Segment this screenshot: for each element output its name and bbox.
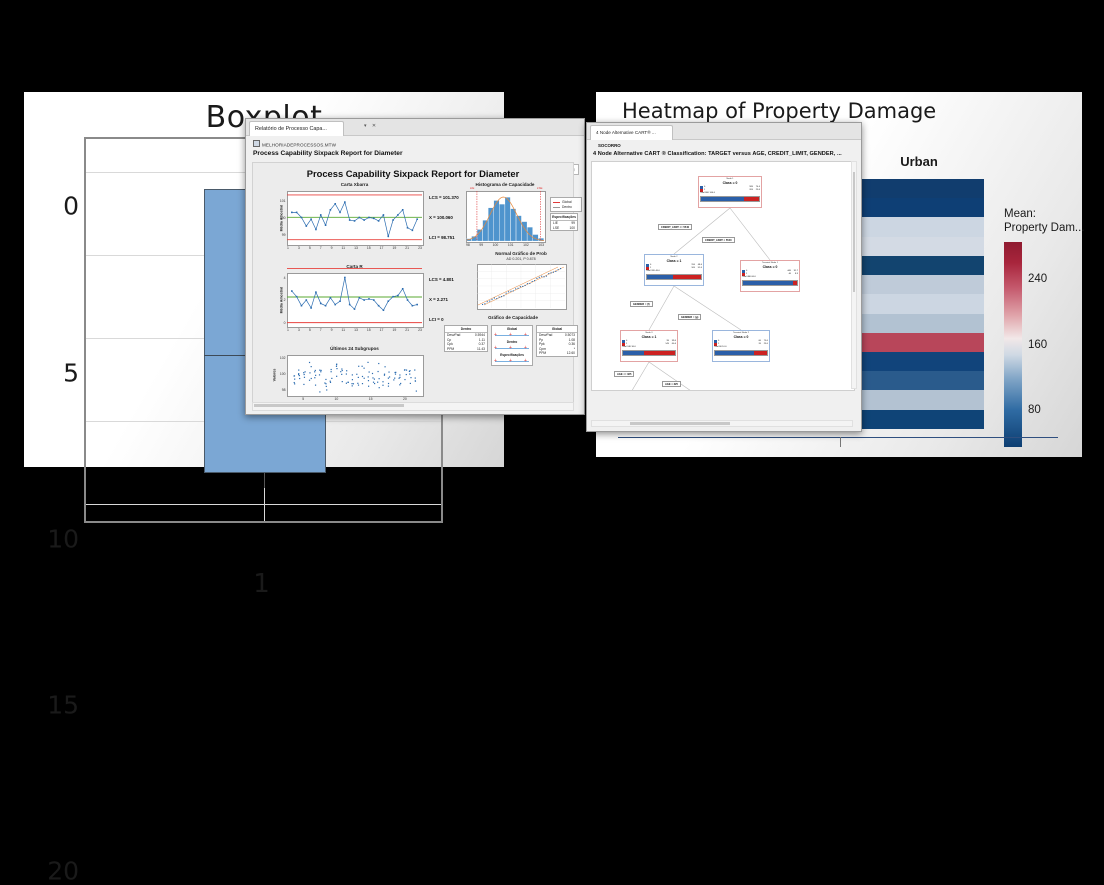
overall-stats-box: Global DesvPad0.5073Pp1.08Ppk0.36Cpm*PPM…	[536, 325, 578, 357]
probability-point	[508, 291, 509, 292]
capbar-within-line: +++	[492, 345, 532, 352]
scatter-point	[378, 363, 379, 364]
series-marker	[330, 297, 332, 299]
probability-point	[520, 286, 521, 287]
probability-point	[499, 297, 500, 298]
cart-node-class: Class = 1	[646, 259, 702, 263]
probability-point	[513, 290, 514, 291]
capbar-spec-line: +++	[492, 358, 532, 365]
cart-node[interactable]: Terminal Node 2Class = 006075.012025.0To…	[712, 330, 770, 362]
scatter-point	[346, 383, 347, 384]
probability-point	[482, 304, 483, 305]
scatter-point	[341, 368, 342, 369]
series-marker	[354, 220, 356, 222]
scatter-point	[379, 378, 380, 379]
scatter-point	[309, 380, 310, 381]
spec-usl-label: LSE	[553, 226, 559, 231]
axis-x-tick: 101	[508, 243, 514, 247]
series-marker	[325, 305, 327, 307]
cart-bar-class1	[744, 197, 759, 201]
scatter-point	[374, 383, 375, 384]
heatmap-legend-tick: 80	[1028, 404, 1041, 416]
legend-swatch-global	[553, 202, 560, 203]
histogram-bars	[466, 191, 544, 241]
probability-point	[560, 268, 561, 269]
sixpack-main-title: Process Capability Sixpack Report for Di…	[253, 168, 573, 179]
series-marker	[291, 212, 293, 214]
xbar-chart: Carta Xbarra Média Amostral 99100101 135…	[287, 191, 422, 244]
axis-x-tick: 21	[405, 328, 409, 332]
scatter-point	[341, 374, 342, 375]
scatter-point	[388, 386, 389, 387]
scatter-point	[299, 375, 300, 376]
scatter-point	[400, 383, 401, 384]
scatter-point	[304, 377, 305, 378]
worksheet-name: MELHORIADEPROCESSOS.MTW	[262, 143, 336, 148]
series-marker	[344, 201, 346, 203]
cart-class-percent: 8.3	[791, 273, 798, 276]
subgroup-xticks: 5101520	[287, 397, 422, 401]
stat-row: PPM12.60	[537, 351, 577, 356]
histogram-bar	[516, 216, 521, 241]
series-marker	[373, 218, 375, 220]
scatter-point	[331, 378, 332, 379]
heatmap-legend-tick: 240	[1028, 273, 1047, 285]
series-marker	[305, 225, 307, 227]
within-stats-rows: DesvPad0.5944Cp1.11Cpk0.37PPM11.43	[445, 333, 487, 351]
scatter-point	[404, 369, 405, 370]
axis-x-tick: 103	[538, 243, 544, 247]
scatter-point	[315, 385, 316, 386]
series-marker	[334, 203, 336, 205]
scatter-point	[364, 378, 365, 379]
series-marker	[339, 212, 341, 214]
scatter-point	[399, 377, 400, 378]
spec-box-title: Especificações	[551, 214, 577, 221]
series-marker	[301, 217, 303, 219]
series-marker	[402, 209, 404, 211]
probability-point	[539, 277, 540, 278]
cart-node[interactable]: Node 1Class = 0059574.4120525.6Total 800…	[698, 176, 762, 208]
scatter-point	[311, 366, 312, 367]
cart-node[interactable]: Node 2Class = 1015548.4116551.6Total 320…	[644, 254, 704, 286]
scatter-point	[304, 371, 305, 372]
scatter-point	[368, 376, 369, 377]
scatter-point	[357, 383, 358, 384]
scatter-point	[342, 381, 343, 382]
scatter-point	[416, 390, 417, 391]
boxplot-y-tick: 5	[63, 358, 79, 387]
cart-node-total: Total 320 40.0	[646, 270, 702, 273]
probability-point	[496, 298, 497, 299]
axis-x-tick: 1	[287, 328, 289, 332]
series-marker	[392, 219, 394, 221]
cart-horizontal-scrollbar[interactable]	[591, 420, 853, 427]
scatter-point	[384, 375, 385, 376]
subgroup-ylabel: Valores	[272, 369, 276, 382]
scatter-point	[298, 369, 299, 370]
scatter-point	[409, 373, 410, 374]
probability-point	[503, 295, 504, 296]
cart-bar-class0	[743, 281, 793, 285]
scatter-point	[362, 376, 363, 377]
capbar-global-line: +++	[492, 332, 532, 339]
capability-bars: Global +++ Dentro +++ Especificações +++	[491, 325, 533, 366]
series-marker	[359, 217, 361, 219]
within-stats-box: Dentro DesvPad0.5944Cp1.11Cpk0.37PPM11.4…	[444, 325, 488, 352]
r-center-label: X = 2.271	[429, 297, 448, 302]
heatmap-colorbar: 24016080	[1004, 242, 1022, 447]
probability-point	[525, 285, 526, 286]
probability-point	[543, 276, 544, 277]
scatter-point	[384, 374, 385, 375]
series-marker	[363, 299, 365, 301]
series-marker	[315, 229, 317, 231]
series-marker	[387, 236, 389, 238]
series-marker	[315, 291, 317, 293]
r-xticks: 1357911131517192123	[287, 328, 422, 332]
sixpack-report-window[interactable]: Relatório de Processo Capa... ▾ ✕ MELHOR…	[245, 118, 585, 415]
cart-tree-canvas: Node 1Class = 0059574.4120525.6Total 800…	[591, 161, 855, 391]
histogram-bar	[494, 201, 499, 241]
sixpack-tab-controls[interactable]: ▾ ✕	[364, 123, 378, 129]
scatter-point	[336, 368, 337, 369]
boxplot-y-tick: 15	[47, 690, 79, 719]
scatter-point	[368, 380, 369, 381]
xbar-center-label: X = 100.060	[429, 215, 453, 220]
cart-bar-class0	[623, 351, 644, 355]
axis-y-tick: 0	[284, 321, 286, 325]
heatmap-legend-title-2: Property Dam...	[1004, 221, 1078, 235]
scatter-point	[351, 383, 352, 384]
probability-point	[510, 291, 511, 292]
normal-plot-title: Normal Gráfico de Prob	[466, 251, 576, 256]
heatmap-legend: Mean: Property Dam... 24016080	[1004, 207, 1078, 235]
spec-usl-value: 100	[569, 226, 575, 231]
cart-node-class: Class = 0	[714, 335, 768, 339]
sixpack-horizontal-scrollbar[interactable]	[252, 402, 574, 411]
xbar-xticks: 1357911131517192123	[287, 246, 422, 250]
scatter-point	[311, 378, 312, 379]
cart-class-count: 165	[688, 267, 695, 270]
scatter-point	[294, 379, 295, 380]
scatter-point	[352, 374, 353, 375]
axis-x-tick: 17	[380, 328, 384, 332]
cart-class-percent: 60.4	[669, 343, 676, 346]
scatter-point	[336, 366, 337, 367]
scatter-point	[389, 376, 390, 377]
scatter-point	[309, 362, 310, 363]
series-marker	[378, 220, 380, 222]
axis-x-tick: 19	[392, 246, 396, 250]
legend-label-within: Dentro	[562, 205, 572, 210]
scatter-point	[304, 374, 305, 375]
cart-node-class: Class = 0	[742, 265, 798, 269]
scatter-point	[382, 385, 383, 386]
stat-label: PPM	[447, 347, 454, 352]
series-marker	[325, 224, 327, 226]
axis-x-tick: 99	[479, 243, 483, 247]
cart-split-label: AGE > 325	[662, 381, 681, 387]
probability-point	[517, 288, 518, 289]
axis-x-tick: 23	[418, 328, 422, 332]
histogram-lsl-mark: LIE	[470, 186, 475, 190]
scatter-point	[388, 378, 389, 379]
series-marker	[296, 296, 298, 298]
cart-node-bars	[700, 196, 760, 202]
series-marker	[387, 300, 389, 302]
cart-node[interactable]: Node 3Class = 109539.6114560.4Total 240 …	[620, 330, 678, 362]
axis-x-tick: 9	[331, 246, 333, 250]
series-marker	[368, 298, 370, 300]
scatter-point	[358, 377, 359, 378]
scatter-point	[352, 385, 353, 386]
normal-plot-subtitle: AD 0.201, P 0.878	[466, 257, 576, 261]
axis-y-tick: 99	[282, 233, 286, 237]
cart-hscroll-thumb[interactable]	[630, 422, 730, 425]
cart-node-total: Total 480 60.0	[742, 276, 798, 279]
cart-title: 4 Node Alternative CART ® Classification…	[593, 151, 842, 157]
cart-node-total: Total 240 30.0	[622, 346, 676, 349]
heatmap-baseline-tick	[840, 437, 841, 447]
cart-split-label: GENDER = (f)	[630, 301, 653, 307]
axis-y-tick: 101	[280, 199, 286, 203]
probability-point	[548, 273, 549, 274]
series-marker	[320, 303, 322, 305]
scatter-point	[358, 384, 359, 385]
cart-vertical-scrollbar[interactable]	[851, 161, 857, 389]
heatmap-title: Heatmap of Property Damage	[622, 99, 936, 123]
histogram-chart: Histograma de Capacidade 989910010110210…	[466, 191, 544, 241]
scatter-point	[363, 368, 364, 369]
heatmap-legend-title-1: Mean:	[1004, 207, 1078, 221]
scatter-point	[314, 377, 315, 378]
scatter-point	[331, 369, 332, 370]
series-marker	[320, 214, 322, 216]
axis-y-tick: 4	[284, 276, 286, 280]
probability-point	[515, 288, 516, 289]
cart-tab[interactable]: 4 Node Alternative CART® ...	[590, 125, 673, 140]
series-marker	[416, 218, 418, 220]
xbar-chart-title: Carta Xbarra	[287, 182, 422, 187]
boxplot-x-tick-label: 1	[84, 569, 439, 599]
cart-split-label: AGE <= 325	[614, 371, 634, 377]
series-marker	[310, 218, 312, 220]
probability-point	[529, 283, 530, 284]
scatter-point	[414, 369, 415, 370]
scatter-point	[409, 370, 410, 371]
probability-point	[541, 276, 542, 277]
axis-x-tick: 20	[403, 397, 407, 401]
series-marker	[349, 219, 351, 221]
series-line	[292, 278, 417, 311]
axis-x-tick: 5	[302, 397, 304, 401]
series-marker	[383, 214, 385, 216]
axis-x-tick: 7	[320, 246, 322, 250]
scatter-point	[388, 383, 389, 384]
r-lcl-label: LCI = 0	[429, 317, 444, 322]
histogram-bar	[505, 197, 510, 241]
scatter-point	[319, 370, 320, 371]
scatter-point	[415, 380, 416, 381]
scatter-point	[303, 384, 304, 385]
stat-label: PPM	[539, 351, 546, 356]
cart-classification-window[interactable]: 4 Node Alternative CART® ... SOCORRO 4 N…	[586, 122, 862, 432]
series-marker	[301, 305, 303, 307]
overall-stats-header: Global	[537, 326, 577, 333]
series-marker	[305, 299, 307, 301]
histogram-xticks: 9899100101102103	[466, 243, 544, 247]
stat-row: PPM11.43	[445, 347, 487, 352]
scatter-point	[368, 386, 369, 387]
r-chart: Carta R Média Amostral 024 1357911131517…	[287, 273, 422, 326]
overall-stats-rows: DesvPad0.5073Pp1.08Ppk0.36Cpm*PPM12.60	[537, 333, 577, 356]
scatter-point	[321, 370, 322, 371]
axis-x-tick: 1	[287, 246, 289, 250]
boxplot-y-tick: 0	[63, 192, 79, 221]
scatter-point	[320, 371, 321, 372]
scatter-point	[342, 370, 343, 371]
cart-node-bars	[742, 280, 798, 286]
scatter-point	[315, 370, 316, 371]
scatter-point	[294, 382, 295, 383]
axis-x-tick: 7	[320, 328, 322, 332]
series-marker	[354, 308, 356, 310]
subgroup-chart: Últimos 24 Subgrupos Valores Amostra 981…	[287, 355, 422, 395]
series-marker	[330, 209, 332, 211]
axis-x-tick: 13	[354, 328, 358, 332]
axis-y-tick: 100	[280, 372, 286, 376]
axis-x-tick: 98	[466, 243, 470, 247]
series-marker	[291, 290, 293, 292]
sixpack-subtitle: Process Capability Sixpack Report for Di…	[253, 150, 403, 157]
boxplot-y-tick: 10	[47, 524, 79, 553]
xbar-ucl-label: LCS = 101.370	[429, 195, 459, 200]
capability-plot-title: Gráfico de Capacidade	[453, 315, 573, 320]
sixpack-scroll-thumb[interactable]	[254, 404, 404, 407]
probability-point	[494, 298, 495, 299]
scatter-point	[374, 379, 375, 380]
cart-split-label: CREDIT_LIMIT <= 5540	[658, 224, 692, 230]
scatter-point	[319, 374, 320, 375]
cart-bar-class0	[647, 275, 673, 279]
probability-point	[506, 293, 507, 294]
probability-point	[546, 276, 547, 277]
series-marker	[407, 299, 409, 301]
scatter-point	[346, 370, 347, 371]
axis-x-tick: 9	[331, 328, 333, 332]
cart-node-total: Total 800 100.0	[700, 192, 760, 195]
scatter-point	[362, 383, 363, 384]
scatter-point	[314, 371, 315, 372]
scatter-point	[330, 381, 331, 382]
normal-prob-chart	[477, 264, 565, 308]
scatter-point	[367, 362, 368, 363]
series-marker	[378, 305, 380, 307]
series-marker	[412, 305, 414, 307]
scatter-point	[319, 391, 320, 392]
probability-point	[553, 272, 554, 273]
sixpack-worksheet-label: MELHORIADEPROCESSOS.MTW	[253, 140, 336, 148]
scatter-point	[324, 382, 325, 383]
scatter-point	[379, 387, 380, 388]
boxplot-whisker	[264, 471, 265, 488]
series-marker	[339, 300, 341, 302]
scatter-point	[346, 373, 347, 374]
heatmap-legend-tick: 160	[1028, 339, 1047, 351]
scatter-point	[399, 384, 400, 385]
scatter-point	[340, 371, 341, 372]
probability-point	[489, 301, 490, 302]
cart-bar-class1	[754, 351, 767, 355]
stat-value: 11.43	[477, 347, 485, 352]
series-marker	[368, 217, 370, 219]
axis-x-tick: 11	[342, 246, 346, 250]
cart-vscroll-thumb[interactable]	[853, 172, 855, 292]
axis-x-tick: 11	[342, 328, 346, 332]
cart-tabbar: 4 Node Alternative CART® ...	[587, 123, 861, 140]
histogram-bar	[527, 227, 532, 241]
scatter-point	[294, 375, 295, 376]
axis-y-tick: 2	[284, 298, 286, 302]
scatter-point	[394, 372, 395, 373]
scatter-point	[382, 381, 383, 382]
scatter-point	[384, 366, 385, 367]
scatter-point	[309, 372, 310, 373]
scatter-point	[410, 383, 411, 384]
scatter-point	[369, 371, 370, 372]
series-marker	[397, 295, 399, 297]
scatter-point	[373, 382, 374, 383]
axis-x-tick: 15	[367, 246, 371, 250]
series-marker	[296, 212, 298, 214]
series-marker	[402, 288, 404, 290]
axis-y-tick: 98	[282, 388, 286, 392]
scatter-point	[404, 379, 405, 380]
histogram-bar	[511, 209, 516, 241]
cart-node-class: Class = 0	[700, 181, 760, 185]
axis-y-tick: 100	[280, 216, 286, 220]
sixpack-canvas: Process Capability Sixpack Report for Di…	[252, 162, 574, 404]
axis-x-tick: 23	[418, 246, 422, 250]
cart-edge	[674, 286, 741, 330]
series-marker	[392, 296, 394, 298]
sixpack-tab[interactable]: Relatório de Processo Capa...	[249, 121, 344, 136]
axis-x-tick: 21	[405, 246, 409, 250]
cart-section-label: SOCORRO	[598, 143, 621, 148]
histogram-usl-mark: LSE	[537, 186, 543, 190]
r-ucl-label: LCS = 4.801	[429, 277, 454, 282]
subgroup-points	[287, 355, 422, 395]
scatter-point	[331, 371, 332, 372]
scatter-point	[336, 364, 337, 365]
axis-x-tick: 19	[392, 328, 396, 332]
heatmap-baseline	[618, 437, 1058, 438]
scatter-point	[347, 382, 348, 383]
cart-node[interactable]: Terminal Node 1Class = 0044091.71408.3To…	[740, 260, 800, 292]
heatmap-column-label: Urban	[859, 154, 979, 169]
scatter-point	[358, 366, 359, 367]
cart-class-count: 20	[754, 343, 761, 346]
cart-node-bars	[622, 350, 676, 356]
scatter-point	[399, 374, 400, 375]
cart-node-bars	[714, 350, 768, 356]
series-marker	[334, 304, 336, 306]
sixpack-tabbar: Relatório de Processo Capa... ▾ ✕	[246, 119, 584, 136]
cart-class-percent: 51.6	[695, 267, 702, 270]
series-marker	[363, 219, 365, 221]
probability-point	[555, 271, 556, 272]
